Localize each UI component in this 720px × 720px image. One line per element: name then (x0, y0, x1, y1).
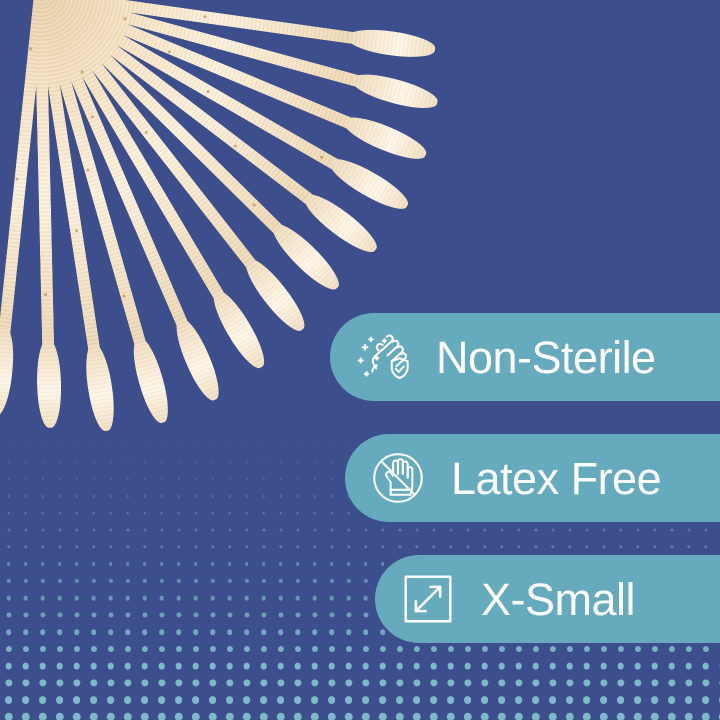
badge-non-sterile[interactable]: Non-Sterile (330, 313, 720, 401)
badge-label: Latex Free (451, 456, 661, 501)
hand-washing-shield-icon (352, 326, 414, 388)
no-latex-glove-icon (367, 447, 429, 509)
product-feature-graphic: Non-SterileLatex FreeX-Small (0, 0, 720, 720)
badge-latex-free[interactable]: Latex Free (345, 434, 720, 522)
badge-x-small[interactable]: X-Small (375, 555, 720, 643)
size-diagonal-arrow-icon (397, 568, 459, 630)
badge-label: X-Small (481, 577, 635, 622)
feature-badge-list: Non-SterileLatex FreeX-Small (0, 0, 720, 720)
badge-label: Non-Sterile (436, 335, 656, 380)
